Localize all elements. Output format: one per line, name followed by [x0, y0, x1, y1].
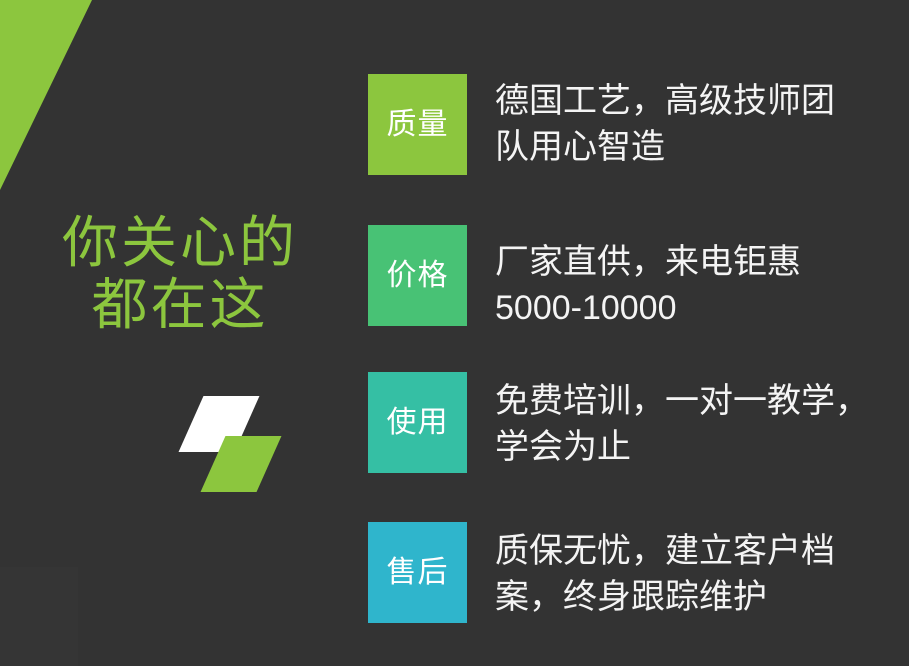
list-item: 使用 免费培训，一对一教学， 学会为止 — [368, 372, 909, 473]
feature-description: 质保无忧，建立客户档 案，终身跟踪维护 — [495, 522, 909, 620]
list-item: 售后 质保无忧，建立客户档 案，终身跟踪维护 — [368, 522, 909, 623]
status-badge: 使用 — [368, 372, 467, 473]
feature-list: 质量 德国工艺，高级技师团 队用心智造 价格 厂家直供，来电钜惠 5000-10… — [368, 0, 909, 666]
list-item: 价格 厂家直供，来电钜惠 5000-10000 — [368, 225, 909, 331]
feature-description: 厂家直供，来电钜惠 5000-10000 — [495, 225, 909, 331]
status-badge: 质量 — [368, 74, 467, 175]
left-column: 你关心的 都在这 — [0, 0, 360, 666]
feature-description: 免费培训，一对一教学， 学会为止 — [495, 372, 909, 470]
status-badge: 售后 — [368, 522, 467, 623]
list-item: 质量 德国工艺，高级技师团 队用心智造 — [368, 74, 909, 175]
badge-label: 价格 — [387, 261, 449, 291]
badge-label: 质量 — [387, 110, 449, 140]
feature-description: 德国工艺，高级技师团 队用心智造 — [495, 74, 909, 170]
status-badge: 价格 — [368, 225, 467, 326]
badge-label: 售后 — [387, 558, 449, 588]
page-title: 你关心的 都在这 — [0, 212, 360, 336]
badge-label: 使用 — [387, 408, 449, 438]
slide-canvas: 你关心的 都在这 质量 德国工艺，高级技师团 队用心智造 价格 厂家直供，来电钜… — [0, 0, 909, 666]
parallelogram-logo-icon — [175, 392, 285, 492]
